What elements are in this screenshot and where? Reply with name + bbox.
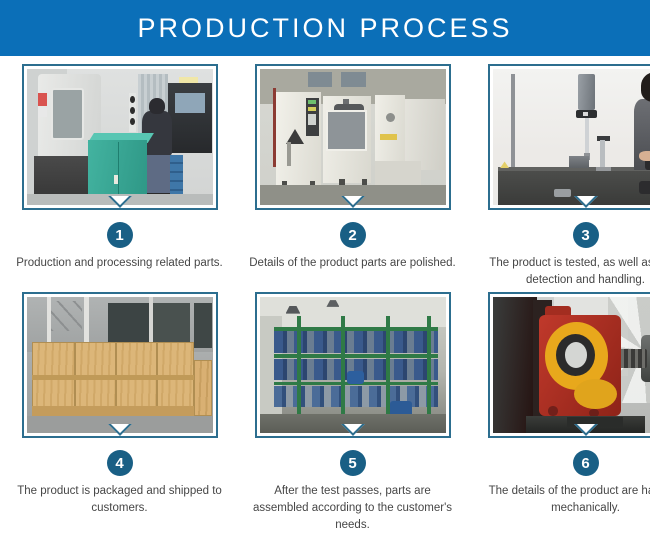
production-process-infographic: PRODUCTION PROCESS	[0, 0, 650, 537]
step-4-caption: The product is packaged and shipped to c…	[12, 483, 227, 516]
step-2-number-badge: 2	[340, 222, 366, 248]
step-5-photo-frame	[255, 292, 451, 438]
step-6-photo-frame	[488, 292, 650, 438]
step-2-caption: Details of the product parts are polishe…	[245, 255, 460, 272]
step-5-number-badge: 5	[340, 450, 366, 476]
step-4-number-badge: 4	[107, 450, 133, 476]
step-6-number-badge: 6	[573, 450, 599, 476]
step-card-5: 5 After the test passes, parts are assem…	[245, 292, 460, 533]
steps-grid: 1 Production and processing related part…	[0, 56, 650, 533]
step-5-caption: After the test passes, parts are assembl…	[245, 483, 460, 533]
step-5-photo-warehouse-shelving-with-gearboxes	[260, 297, 446, 433]
step-card-6: 6 The details of the product are handled…	[478, 292, 650, 533]
step-card-2: 2 Details of the product parts are polis…	[245, 64, 460, 288]
step-3-number-badge: 3	[573, 222, 599, 248]
step-3-photo-frame	[488, 64, 650, 210]
step-card-3: 3 The product is tested, as well as wear…	[478, 64, 650, 288]
step-6-photo-gearbox-housing-being-machined	[493, 297, 650, 433]
step-3-photo-coordinate-measuring-machine-inspection	[493, 69, 650, 205]
step-1-caption: Production and processing related parts.	[12, 255, 227, 272]
step-1-photo-frame	[22, 64, 218, 210]
step-3-caption: The product is tested, as well as wear d…	[478, 255, 650, 288]
step-2-photo-frame	[255, 64, 451, 210]
step-6-caption: The details of the product are handled m…	[478, 483, 650, 516]
step-2-photo-cnc-grinding-machines	[260, 69, 446, 205]
step-4-photo-wooden-packing-crates	[27, 297, 213, 433]
page-header-banner: PRODUCTION PROCESS	[0, 0, 650, 56]
step-4-photo-frame	[22, 292, 218, 438]
step-1-number-badge: 1	[107, 222, 133, 248]
step-card-4: 4 The product is packaged and shipped to…	[12, 292, 227, 533]
page-title: PRODUCTION PROCESS	[137, 13, 512, 44]
step-1-photo-machining-shop-with-operator	[27, 69, 213, 205]
step-card-1: 1 Production and processing related part…	[12, 64, 227, 288]
